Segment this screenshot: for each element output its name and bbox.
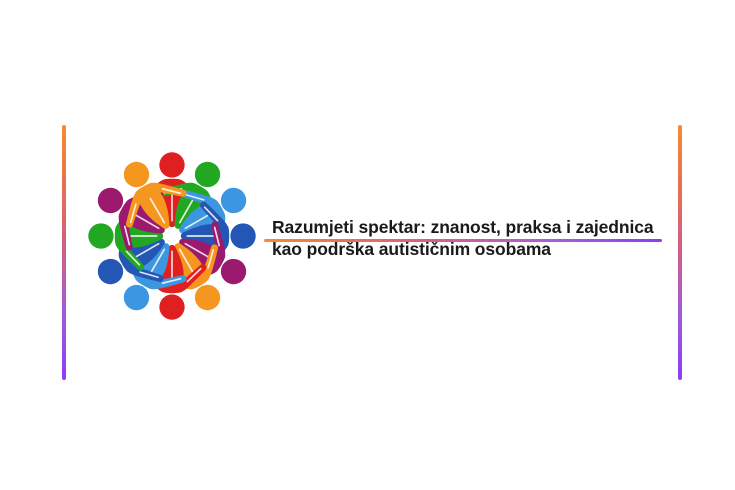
title-block: Razumjeti spektar: znanost, praksa i zaj… <box>272 216 672 260</box>
title-line-1: Razumjeti spektar: znanost, praksa i zaj… <box>272 216 672 238</box>
left-vertical-gradient-rule <box>62 125 66 380</box>
people-circle-logo <box>76 138 268 334</box>
title-gradient-underline <box>264 239 662 242</box>
right-vertical-gradient-rule <box>678 125 682 380</box>
banner-canvas: Razumjeti spektar: znanost, praksa i zaj… <box>0 0 735 490</box>
